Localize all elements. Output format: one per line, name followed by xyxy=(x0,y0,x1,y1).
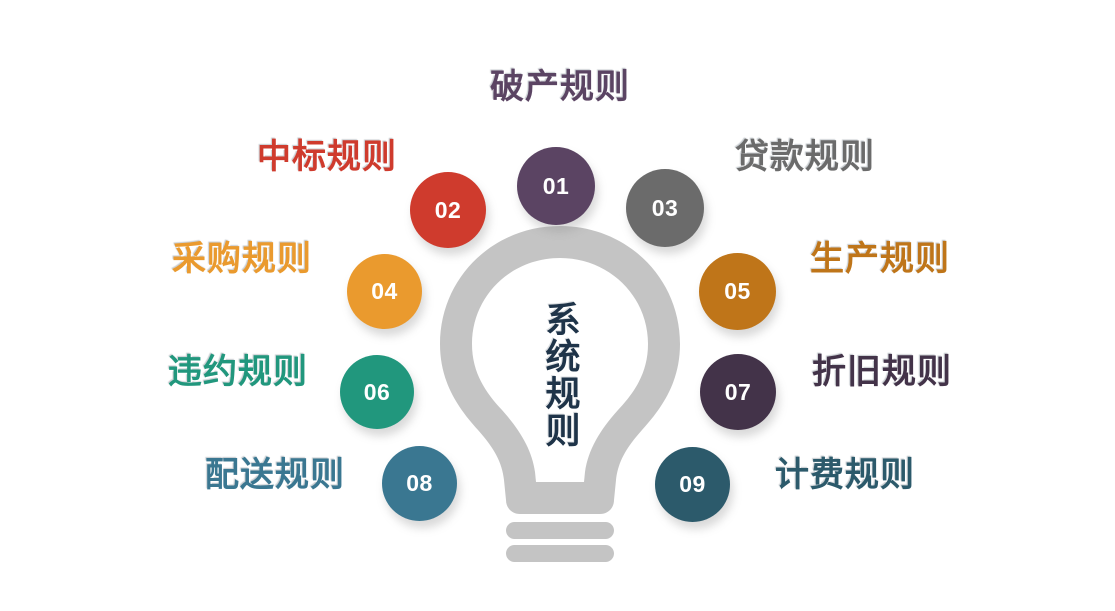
node-label-09[interactable]: 计费规则 xyxy=(775,458,1005,492)
node-circle-04[interactable]: 04 xyxy=(347,254,422,329)
node-number: 03 xyxy=(652,197,679,220)
node-number: 07 xyxy=(725,381,752,404)
node-label-03[interactable]: 贷款规则 xyxy=(735,140,965,174)
node-number: 06 xyxy=(364,381,391,404)
center-label: 系统规则 xyxy=(432,270,688,480)
center-label-text: 系统规则 xyxy=(541,301,578,449)
node-circle-08[interactable]: 08 xyxy=(382,446,457,521)
node-number: 01 xyxy=(543,175,570,198)
node-label-05[interactable]: 生产规则 xyxy=(810,242,1040,276)
node-circle-06[interactable]: 06 xyxy=(340,355,414,429)
node-label-04[interactable]: 采购规则 xyxy=(82,242,312,276)
node-label-01[interactable]: 破产规则 xyxy=(455,70,665,104)
node-label-06[interactable]: 违约规则 xyxy=(78,355,308,389)
node-number: 04 xyxy=(371,280,398,303)
node-circle-03[interactable]: 03 xyxy=(626,169,704,247)
node-label-07[interactable]: 折旧规则 xyxy=(812,355,1042,389)
node-circle-07[interactable]: 07 xyxy=(700,354,776,430)
center-bulb-group: 系统规则 xyxy=(432,222,688,562)
node-circle-02[interactable]: 02 xyxy=(410,172,486,248)
diagram-canvas: 系统规则 01破产规则02中标规则03贷款规则04采购规则05生产规则06违约规… xyxy=(0,0,1115,611)
node-label-08[interactable]: 配送规则 xyxy=(115,458,345,492)
node-number: 05 xyxy=(724,280,751,303)
node-label-02[interactable]: 中标规则 xyxy=(167,140,397,174)
node-number: 02 xyxy=(435,199,462,222)
node-number: 08 xyxy=(406,472,433,495)
node-circle-01[interactable]: 01 xyxy=(517,147,595,225)
node-number: 09 xyxy=(679,473,706,496)
node-circle-09[interactable]: 09 xyxy=(655,447,730,522)
node-circle-05[interactable]: 05 xyxy=(699,253,776,330)
